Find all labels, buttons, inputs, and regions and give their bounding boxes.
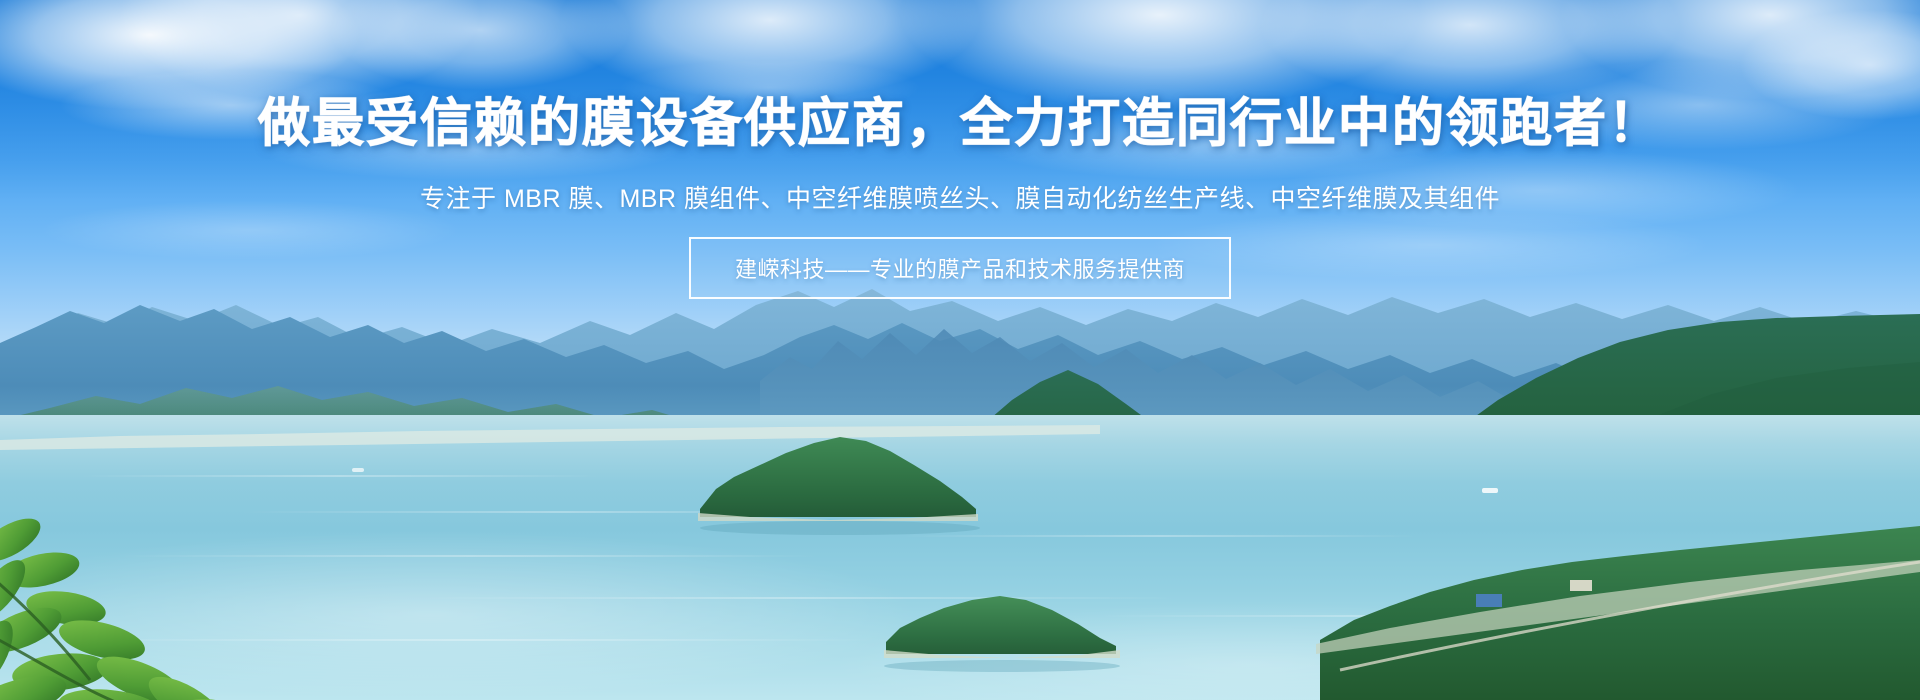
boat-icon [1482, 488, 1498, 493]
promontory-right [1280, 520, 1920, 700]
island-large [690, 425, 990, 535]
sky-top-shading [0, 0, 1920, 200]
island-small [880, 580, 1130, 675]
boat-icon [352, 468, 364, 472]
foliage-branch [0, 440, 330, 700]
hero-banner: 做最受信赖的膜设备供应商，全力打造同行业中的领跑者！ 专注于 MBR 膜、MBR… [0, 0, 1920, 700]
